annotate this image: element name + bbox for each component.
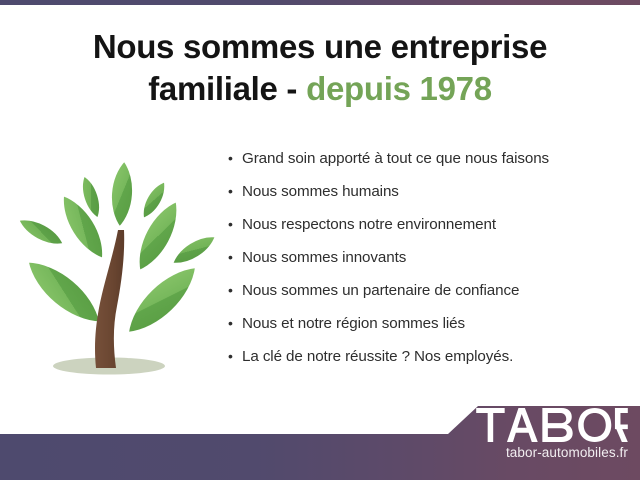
list-item: • Nous sommes un partenaire de confiance (228, 280, 628, 313)
brand-tagline: tabor-automobiles.fr (448, 445, 628, 460)
list-item-label: Nous et notre région sommes liés (242, 313, 628, 334)
bullet-marker-icon: • (228, 346, 242, 367)
bullet-marker-icon: • (228, 280, 242, 301)
title-line-2-main: familiale - (148, 70, 297, 107)
title-line-2: familiale -depuis 1978 (0, 68, 640, 110)
bullet-marker-icon: • (228, 148, 242, 169)
title-line-2-accent: depuis 1978 (306, 70, 492, 107)
list-item-label: Nous sommes innovants (242, 247, 628, 268)
list-item: • Grand soin apporté à tout ce que nous … (228, 148, 628, 181)
tabor-wordmark-icon (448, 408, 628, 442)
list-item-label: Grand soin apporté à tout ce que nous fa… (242, 148, 628, 169)
list-item: • Nous et notre région sommes liés (228, 313, 628, 346)
page-title: Nous sommes une entreprise familiale -de… (0, 26, 640, 110)
list-item: • Nous respectons notre environnement (228, 214, 628, 247)
bullet-marker-icon: • (228, 214, 242, 235)
benefits-list: • Grand soin apporté à tout ce que nous … (228, 148, 628, 379)
list-item-label: Nous sommes un partenaire de confiance (242, 280, 628, 301)
list-item-label: Nous sommes humains (242, 181, 628, 202)
list-item: • Nous sommes humains (228, 181, 628, 214)
list-item-label: Nous respectons notre environnement (242, 214, 628, 235)
title-line-1: Nous sommes une entreprise (0, 26, 640, 68)
list-item-label: La clé de notre réussite ? Nos employés. (242, 346, 628, 367)
bullet-marker-icon: • (228, 313, 242, 334)
brand-logo[interactable]: tabor-automobiles.fr (448, 408, 628, 460)
bullet-marker-icon: • (228, 181, 242, 202)
tree-illustration (12, 152, 220, 388)
slide-canvas: Nous sommes une entreprise familiale -de… (0, 0, 640, 480)
bullet-marker-icon: • (228, 247, 242, 268)
list-item: • Nous sommes innovants (228, 247, 628, 280)
list-item: • La clé de notre réussite ? Nos employé… (228, 346, 628, 379)
top-accent-bar (0, 0, 640, 5)
